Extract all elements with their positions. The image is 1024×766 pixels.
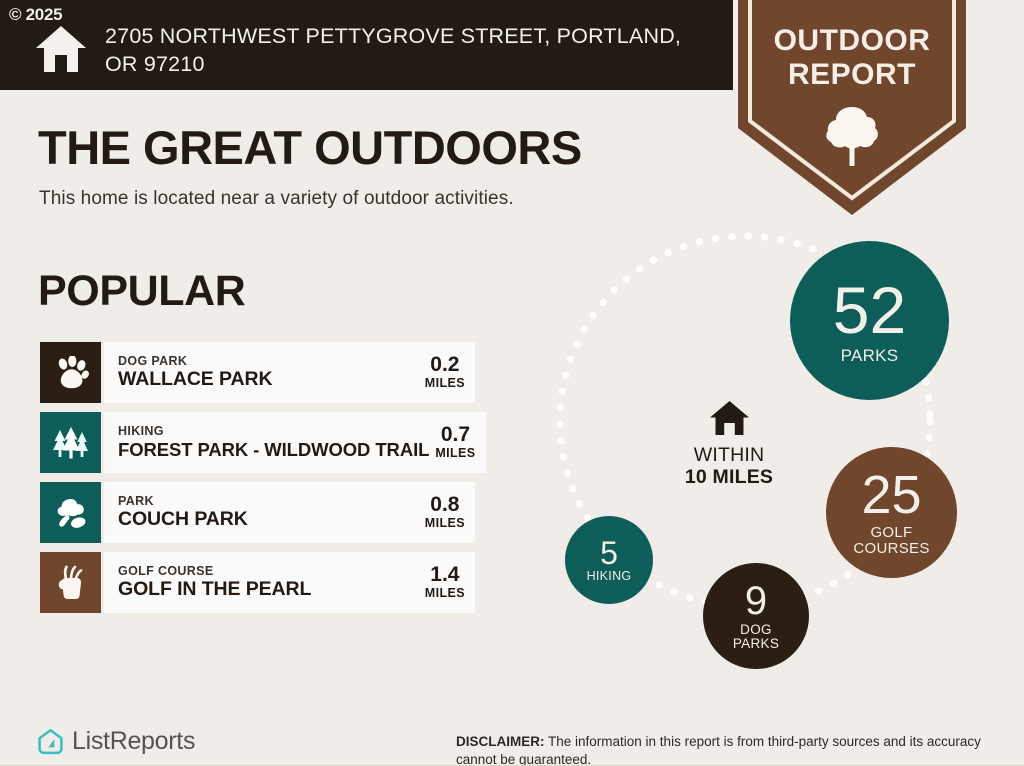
park-tree-icon: [52, 496, 90, 530]
badge-line-1: OUTDOOR: [728, 24, 976, 58]
list-item-distance-unit: MILES: [435, 446, 475, 461]
list-item-text: PARK COUCH PARK: [118, 494, 419, 531]
disclaimer-label: DISCLAIMER:: [456, 734, 545, 749]
copyright-text: © 2025: [9, 6, 62, 23]
list-item-name: WALLACE PARK: [118, 368, 419, 391]
list-item-distance: 1.4 MILES: [419, 564, 465, 601]
bubble-label-line-2: PARKS: [733, 637, 779, 651]
bubble-value: 52: [833, 277, 906, 343]
disclaimer: DISCLAIMER: The information in this repo…: [456, 733, 992, 766]
bubble-label-line-1: DOG: [733, 623, 779, 637]
list-item-name: FOREST PARK - WILDWOOD TRAIL: [118, 438, 429, 461]
bubble-parks[interactable]: 52 PARKS: [790, 241, 949, 400]
list-item-category: DOG PARK: [118, 354, 419, 368]
bubble-dog-parks[interactable]: 9 DOG PARKS: [703, 563, 809, 669]
bubble-label: PARKS: [841, 347, 899, 365]
list-item-category: PARK: [118, 494, 419, 508]
page-title: THE GREAT OUTDOORS: [38, 124, 582, 171]
list-item-icon-tile: [40, 342, 101, 403]
bubble-label-line-1: GOLF: [853, 525, 929, 541]
list-item-body: GOLF COURSE GOLF IN THE PEARL 1.4 MILES: [101, 552, 475, 613]
paw-icon: [53, 356, 89, 390]
list-item-distance-value: 0.7: [435, 424, 475, 446]
list-item-body: DOG PARK WALLACE PARK 0.2 MILES: [101, 342, 475, 403]
popular-list: DOG PARK WALLACE PARK 0.2 MILES: [40, 342, 475, 622]
chart-center-line-2: 10 MILES: [674, 466, 784, 489]
list-item-distance: 0.7 MILES: [429, 424, 475, 461]
bubble-value: 9: [745, 581, 767, 621]
list-item-name: GOLF IN THE PEARL: [118, 578, 419, 601]
list-item-distance: 0.2 MILES: [419, 354, 465, 391]
pine-trees-icon: [51, 426, 91, 460]
bubble-value: 25: [861, 468, 921, 522]
list-item[interactable]: HIKING FOREST PARK - WILDWOOD TRAIL 0.7 …: [40, 412, 475, 473]
chart-center-line-1: WITHIN: [674, 444, 784, 466]
list-item-text: GOLF COURSE GOLF IN THE PEARL: [118, 564, 419, 601]
property-address: 2705 NORTHWEST PETTYGROVE STREET, PORTLA…: [105, 22, 715, 78]
list-item-text: DOG PARK WALLACE PARK: [118, 354, 419, 391]
home-icon: [709, 400, 750, 436]
list-item[interactable]: PARK COUCH PARK 0.8 MILES: [40, 482, 475, 543]
page-subtitle: This home is located near a variety of o…: [39, 188, 514, 210]
popular-heading: POPULAR: [38, 270, 245, 313]
bubble-label: GOLF COURSES: [853, 525, 929, 557]
list-item-body: HIKING FOREST PARK - WILDWOOD TRAIL 0.7 …: [101, 412, 486, 473]
list-item-distance-value: 0.2: [425, 354, 465, 376]
list-item-distance-value: 1.4: [425, 564, 465, 586]
badge-label: OUTDOOR REPORT: [728, 24, 976, 92]
bubble-label-line-2: COURSES: [853, 541, 929, 557]
bubble-chart: 52 PARKS 25 GOLF COURSES 9 DOG PARKS 5 H…: [524, 225, 1024, 695]
listreports-wordmark: ListReports: [72, 729, 195, 754]
list-item-icon-tile: [40, 412, 101, 473]
list-item-body: PARK COUCH PARK 0.8 MILES: [101, 482, 475, 543]
badge-line-2: REPORT: [728, 58, 976, 92]
listreports-logo[interactable]: ListReports: [36, 727, 195, 756]
bubble-value: 5: [600, 537, 618, 569]
list-item-name: COUCH PARK: [118, 508, 419, 531]
bubble-golf-courses[interactable]: 25 GOLF COURSES: [826, 447, 957, 578]
list-item[interactable]: GOLF COURSE GOLF IN THE PEARL 1.4 MILES: [40, 552, 475, 613]
outdoor-report-badge: OUTDOOR REPORT: [728, 0, 976, 215]
list-item-distance-unit: MILES: [425, 586, 465, 601]
list-item-distance-value: 0.8: [425, 494, 465, 516]
home-icon: [35, 25, 87, 73]
list-item-category: GOLF COURSE: [118, 564, 419, 578]
golf-bag-icon: [55, 565, 87, 601]
list-item-text: HIKING FOREST PARK - WILDWOOD TRAIL: [118, 424, 429, 461]
bubble-label: HIKING: [587, 570, 632, 583]
chart-center-label: WITHIN 10 MILES: [674, 400, 784, 489]
list-item-distance-unit: MILES: [425, 376, 465, 391]
list-item-icon-tile: [40, 552, 101, 613]
list-item-distance-unit: MILES: [425, 516, 465, 531]
list-item-category: HIKING: [118, 424, 429, 438]
list-item-icon-tile: [40, 482, 101, 543]
bubble-hiking[interactable]: 5 HIKING: [565, 516, 653, 604]
bubble-label: DOG PARKS: [733, 623, 779, 651]
list-item[interactable]: DOG PARK WALLACE PARK 0.2 MILES: [40, 342, 475, 403]
list-item-distance: 0.8 MILES: [419, 494, 465, 531]
header-bar: © 2025 2705 NORTHWEST PETTYGROVE STREET,…: [0, 0, 733, 90]
tree-icon: [824, 105, 880, 167]
outdoor-report-page: © 2025 2705 NORTHWEST PETTYGROVE STREET,…: [0, 0, 1024, 766]
listreports-house-icon: [36, 727, 65, 756]
